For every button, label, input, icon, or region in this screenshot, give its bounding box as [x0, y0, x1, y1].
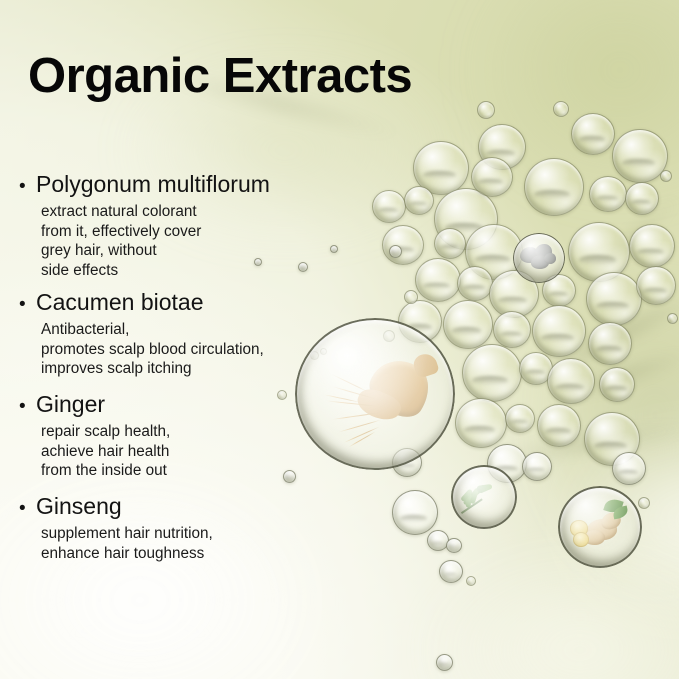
bubble [415, 258, 461, 302]
bubble [638, 497, 650, 509]
bubble [298, 262, 308, 272]
bubble [625, 182, 659, 215]
organic-extracts-poster: Organic Extracts • Polygonum multiflorum… [0, 0, 679, 679]
bubble [283, 470, 296, 483]
bubble [667, 313, 678, 324]
polygonum-root-icon [520, 244, 556, 270]
bubble [330, 245, 338, 253]
bubble [636, 266, 676, 305]
bubble [462, 344, 522, 402]
bubble [382, 225, 424, 265]
bubble [443, 300, 493, 349]
bubble [389, 245, 402, 258]
bubble [505, 404, 535, 433]
ingredient-item: • Polygonum multiflorum extract natural … [19, 172, 270, 281]
bubble [571, 113, 615, 155]
page-title: Organic Extracts [28, 52, 412, 101]
ingredient-heading: • Polygonum multiflorum [19, 172, 270, 197]
bubble [660, 170, 672, 182]
bubble [277, 390, 287, 400]
ingredient-item: • Ginseng supplement hair nutrition, enh… [19, 494, 213, 563]
ingredient-name: Polygonum multiflorum [36, 172, 270, 197]
polygonum-root-bubble [513, 233, 565, 283]
bubble [553, 101, 569, 117]
bubble [392, 490, 438, 535]
bubble [599, 367, 635, 402]
ingredient-name: Ginger [36, 392, 105, 417]
ginseng-root-bubble [295, 318, 455, 470]
bubble [586, 272, 642, 326]
ingredient-description: extract natural colorant from it, effect… [41, 202, 270, 280]
bubble [455, 398, 507, 448]
bubble [493, 311, 531, 348]
ingredient-item: • Ginger repair scalp health, achieve ha… [19, 392, 170, 481]
ingredient-heading: • Ginger [19, 392, 170, 417]
bullet-icon: • [19, 295, 36, 314]
cypress-sprig-icon [459, 479, 500, 516]
ingredient-description: supplement hair nutrition, enhance hair … [41, 524, 213, 563]
bubble [588, 322, 632, 365]
bubble [612, 452, 646, 485]
cacumen-biotae-bubble [451, 465, 517, 529]
ingredient-name: Cacumen biotae [36, 290, 204, 315]
bubble [439, 560, 463, 583]
ingredient-name: Ginseng [36, 494, 122, 519]
ingredient-heading: • Cacumen biotae [19, 290, 264, 315]
bubble [446, 538, 462, 553]
ginseng-root-icon [333, 354, 439, 439]
ingredient-description: Antibacterial, promotes scalp blood circ… [41, 320, 264, 379]
bubble [434, 228, 466, 259]
ingredient-heading: • Ginseng [19, 494, 213, 519]
bubble [532, 305, 586, 357]
ingredient-item: • Cacumen biotae Antibacterial, promotes… [19, 290, 264, 379]
ingredient-description: repair scalp health, achieve hair health… [41, 422, 170, 481]
ginger-root-icon [566, 494, 633, 556]
ginger-bubble [558, 486, 642, 568]
bullet-icon: • [19, 397, 36, 416]
bubble [404, 290, 418, 304]
bubble [404, 186, 434, 215]
bubble [466, 576, 476, 586]
bubble [436, 654, 453, 671]
bubble [471, 157, 513, 197]
bubble [457, 266, 493, 301]
bubble [589, 176, 627, 212]
bubble [537, 404, 581, 447]
bullet-icon: • [19, 499, 36, 518]
bullet-icon: • [19, 177, 36, 196]
bubble [372, 190, 406, 223]
bubble [524, 158, 584, 216]
bubble [629, 224, 675, 268]
bubble [522, 452, 552, 481]
bubble [477, 101, 495, 119]
bubble [547, 358, 595, 404]
